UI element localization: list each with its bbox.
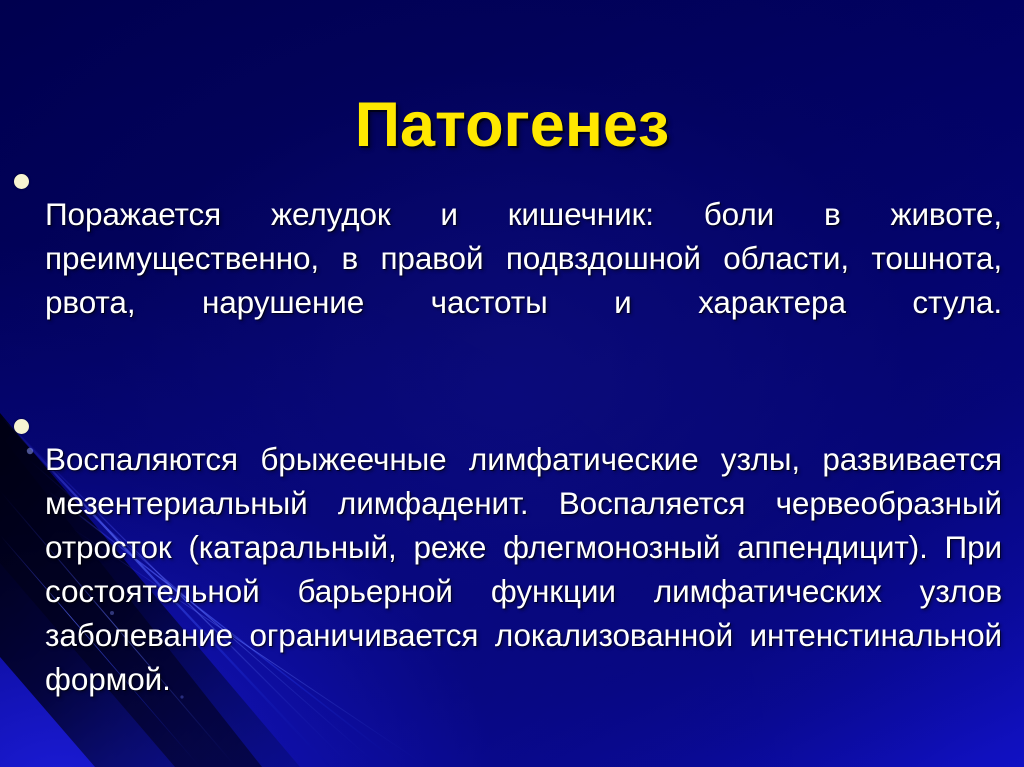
bullet-text: Воспаляются брыжеечные лимфатические узл… (45, 437, 1002, 745)
presentation-slide: Патогенез Поражается желудок и кишечник:… (0, 0, 1024, 767)
slide-body: Поражается желудок и кишечник: боли в жи… (0, 160, 1024, 767)
bullet-text: Поражается желудок и кишечник: боли в жи… (45, 192, 1002, 368)
bullet-circle-icon (14, 174, 29, 189)
list-item: Воспаляются брыжеечные лимфатические узл… (0, 405, 1024, 767)
page-title: Патогенез (355, 94, 670, 157)
bullet-circle-icon (14, 419, 29, 434)
list-item: Поражается желудок и кишечник: боли в жи… (0, 160, 1024, 399)
